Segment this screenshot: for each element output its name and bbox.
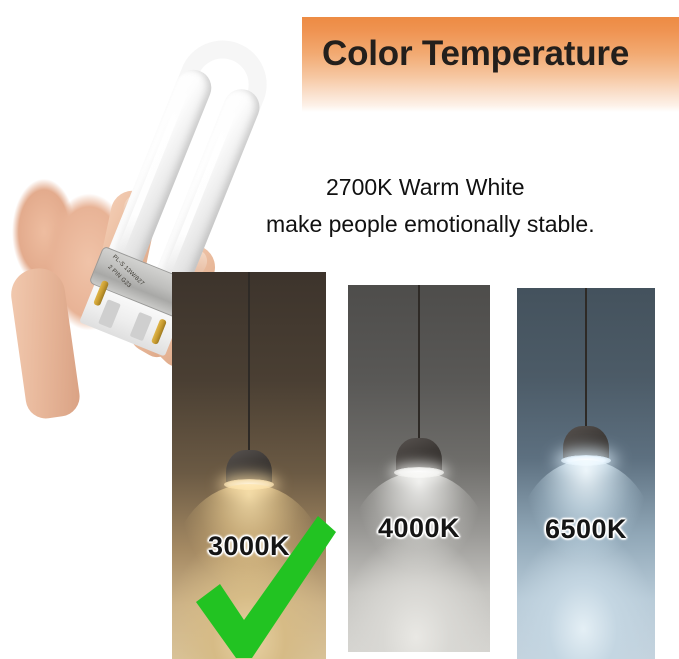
color-temp-panel-4000k[interactable]: 4000K [348,285,490,652]
color-temp-label: 4000K [348,513,490,544]
page-title: Color Temperature [322,34,629,74]
headline-color-temperature: 2700K Warm White [326,174,525,201]
pendant-lamp [348,285,490,652]
product-infographic: Color Temperature 2700K Warm White make … [0,0,679,659]
light-beam [348,472,490,637]
lamp-cord [585,288,587,428]
thumb [8,265,82,421]
color-temp-panel-6500k[interactable]: 6500K [517,288,655,659]
color-temp-label: 3000K [172,531,326,562]
light-beam [172,484,326,659]
pendant-lamp [172,272,326,659]
color-temp-label: 6500K [517,514,655,545]
lamp-cord [248,272,250,452]
pendant-lamp [517,288,655,659]
color-temp-panel-3000k[interactable]: 3000K [172,272,326,659]
light-beam [517,460,655,630]
subline-benefit: make people emotionally stable. [266,211,595,238]
lamp-cord [418,285,420,440]
